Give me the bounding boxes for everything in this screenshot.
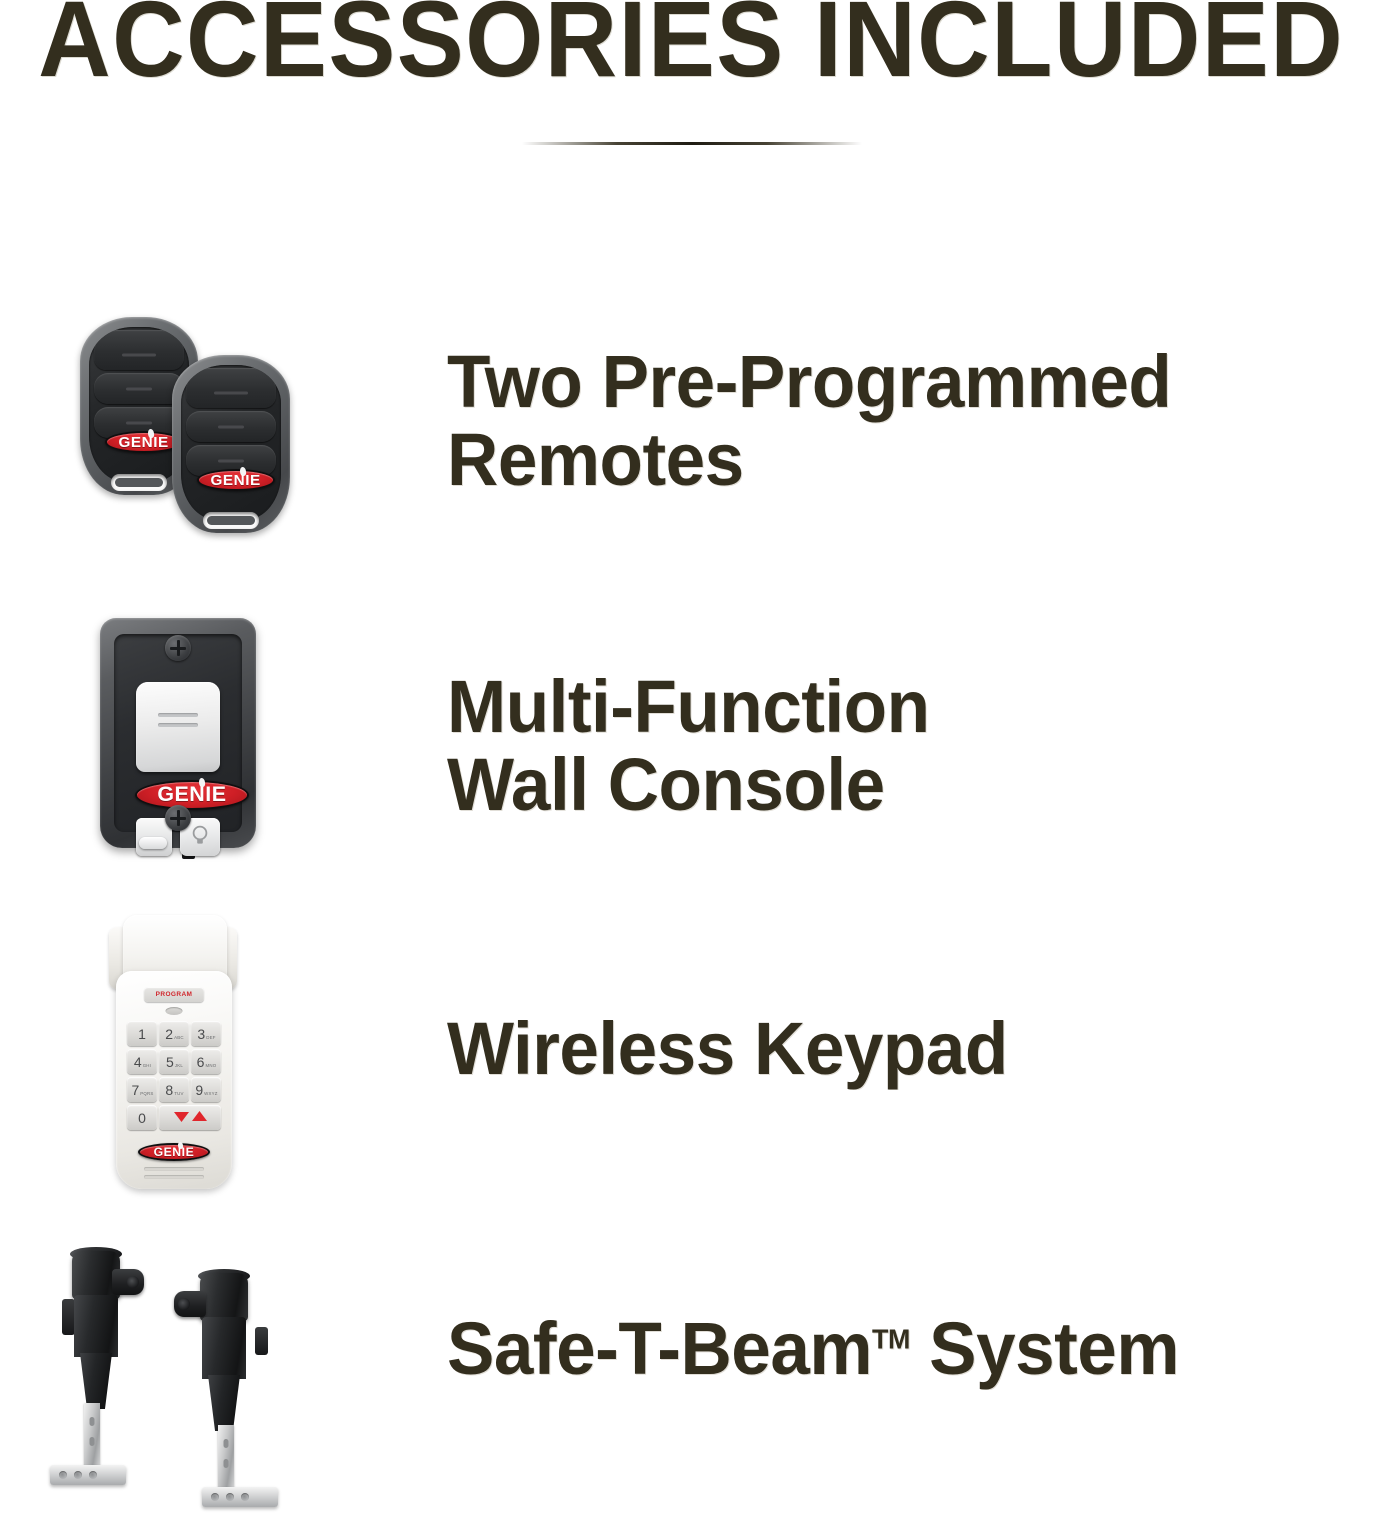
key-number: 2 bbox=[165, 1026, 173, 1042]
sensor-lens-right bbox=[112, 1269, 144, 1295]
accessory-row-wireless-keypad: PROGRAM 1 2ABC 3DEF 4GHI 5JKL 6MNO 7PQRS… bbox=[0, 910, 1383, 1200]
key-letters: WXYZ bbox=[204, 1091, 217, 1096]
header: ACCESSORIES INCLUDED bbox=[0, 0, 1383, 91]
post-slot bbox=[224, 1439, 229, 1448]
key-number: 1 bbox=[138, 1026, 146, 1042]
safe-t-beam-sensor-left bbox=[50, 1243, 150, 1508]
down-arrow-icon bbox=[174, 1109, 189, 1127]
genie-logo: GENIE bbox=[197, 469, 275, 491]
wireless-keypad-art: PROGRAM 1 2ABC 3DEF 4GHI 5JKL 6MNO 7PQRS… bbox=[103, 915, 243, 1190]
remote-button-2[interactable] bbox=[186, 411, 276, 442]
up-arrow-icon bbox=[192, 1109, 207, 1127]
button-dash-icon bbox=[126, 421, 152, 424]
trademark-symbol: TM bbox=[872, 1323, 910, 1354]
program-button[interactable]: PROGRAM bbox=[144, 987, 204, 1002]
keypad-vent-slot bbox=[144, 1175, 204, 1179]
label-line-1: Two Pre-Programmed bbox=[447, 340, 1171, 423]
key-letters: GHI bbox=[143, 1063, 151, 1068]
remote-button-1[interactable] bbox=[94, 330, 184, 370]
keypad-key-8[interactable]: 8TUV bbox=[159, 1077, 189, 1102]
key-number: 0 bbox=[138, 1110, 146, 1126]
accessory-row-wall-console: GENIE bbox=[0, 610, 1383, 870]
key-number: 5 bbox=[166, 1054, 174, 1070]
genie-logo-text: GENIE bbox=[157, 783, 226, 807]
key-letters: PQRS bbox=[140, 1091, 153, 1096]
keypad-key-3[interactable]: 3DEF bbox=[191, 1021, 221, 1046]
keypad-key-5[interactable]: 5JKL bbox=[159, 1049, 189, 1074]
light-bulb-icon bbox=[191, 824, 209, 851]
keypad-body: PROGRAM 1 2ABC 3DEF 4GHI 5JKL 6MNO 7PQRS… bbox=[116, 971, 232, 1189]
sensor-taper bbox=[208, 1375, 240, 1431]
genie-logo-text: GENIE bbox=[154, 1145, 195, 1159]
status-led bbox=[166, 1007, 183, 1015]
button-line-icon bbox=[158, 713, 198, 717]
keypad-key-0[interactable]: 0 bbox=[127, 1105, 157, 1130]
post-slot bbox=[90, 1437, 95, 1446]
key-number: 7 bbox=[131, 1082, 139, 1098]
accessory-label-safe-t-beam: Safe-T-BeamTM System bbox=[447, 1310, 1179, 1388]
wall-console-art: GENIE bbox=[100, 618, 256, 848]
mounting-screw-bottom bbox=[165, 805, 191, 831]
button-dash-icon bbox=[122, 353, 156, 356]
console-faceplate: GENIE bbox=[114, 634, 242, 832]
remote-button-2[interactable] bbox=[94, 373, 184, 404]
accessory-row-safe-t-beam: Safe-T-BeamTM System bbox=[0, 1235, 1383, 1500]
remote-button-1[interactable] bbox=[186, 368, 276, 408]
title-divider bbox=[522, 142, 862, 145]
keyring-slot bbox=[111, 474, 167, 491]
keypad-key-4[interactable]: 4GHI bbox=[127, 1049, 157, 1074]
sensor-eye-icon bbox=[127, 1276, 139, 1288]
genie-logo: GENIE bbox=[138, 1143, 210, 1161]
button-dash-icon bbox=[218, 425, 244, 428]
button-dash-icon bbox=[126, 387, 152, 390]
key-number: 8 bbox=[165, 1082, 173, 1098]
key-number: 9 bbox=[195, 1082, 203, 1098]
key-letters: ABC bbox=[174, 1035, 184, 1040]
post-slot bbox=[90, 1417, 95, 1426]
key-letters: TUV bbox=[174, 1091, 183, 1096]
key-number: 6 bbox=[197, 1054, 205, 1070]
sensor-head bbox=[200, 1273, 248, 1321]
sensor-barrel bbox=[74, 1295, 118, 1357]
sensor-lens-left bbox=[174, 1291, 206, 1317]
switch-knob bbox=[139, 837, 167, 849]
key-number: 3 bbox=[197, 1026, 205, 1042]
keypad-key-7[interactable]: 7PQRS bbox=[127, 1077, 157, 1102]
mounting-screw-top bbox=[165, 635, 191, 661]
key-number: 4 bbox=[134, 1054, 142, 1070]
accessory-label-wall-console: Multi-FunctionWall Console bbox=[447, 668, 930, 824]
accessory-row-remotes: GENIE GENIE Two Pre-ProgrammedRemotes bbox=[0, 295, 1383, 550]
key-letters: MNO bbox=[205, 1063, 216, 1068]
remote-face: GENIE bbox=[181, 365, 281, 520]
sensor-taper bbox=[80, 1353, 112, 1409]
button-line-icon bbox=[158, 723, 198, 727]
genie-logo-text: GENIE bbox=[119, 434, 169, 451]
keypad-keys[interactable]: 1 2ABC 3DEF 4GHI 5JKL 6MNO 7PQRS 8TUV 9W… bbox=[127, 1021, 221, 1130]
safe-t-beam-art bbox=[50, 1235, 295, 1500]
mounting-bracket bbox=[202, 1487, 278, 1507]
genie-logo: GENIE bbox=[135, 780, 249, 810]
sensor-mount-post bbox=[218, 1425, 234, 1493]
label-line-1: Multi-Function bbox=[447, 665, 930, 748]
bracket-hole bbox=[89, 1471, 97, 1479]
bracket-hole bbox=[74, 1471, 82, 1479]
button-dash-icon bbox=[214, 391, 248, 394]
keypad-vent-slot bbox=[144, 1167, 204, 1171]
page-title: ACCESSORIES INCLUDED bbox=[39, 0, 1345, 93]
program-button-label: PROGRAM bbox=[156, 991, 193, 998]
remotes-art: GENIE GENIE bbox=[72, 305, 372, 535]
safe-t-beam-sensor-right bbox=[178, 1265, 278, 1530]
genie-logo-text: GENIE bbox=[211, 472, 261, 489]
accessory-label-wireless-keypad: Wireless Keypad bbox=[447, 1010, 1008, 1088]
sensor-mount-post bbox=[84, 1403, 100, 1471]
sensor-eye-icon bbox=[178, 1298, 190, 1310]
keypad-key-6[interactable]: 6MNO bbox=[191, 1049, 221, 1074]
keypad-key-2[interactable]: 2ABC bbox=[159, 1021, 189, 1046]
key-letters: JKL bbox=[175, 1063, 183, 1068]
post-slot bbox=[224, 1459, 229, 1468]
key-letters: DEF bbox=[206, 1035, 215, 1040]
keypad-arrow-key[interactable] bbox=[159, 1105, 221, 1130]
label-line-2: Remotes bbox=[447, 418, 744, 501]
door-open-close-button[interactable] bbox=[136, 682, 220, 772]
keypad-key-1[interactable]: 1 bbox=[127, 1021, 157, 1046]
label-main: Safe-T-Beam bbox=[447, 1307, 872, 1390]
keyring-slot bbox=[203, 512, 259, 529]
bracket-hole bbox=[59, 1471, 67, 1479]
keypad-key-9[interactable]: 9WXYZ bbox=[191, 1077, 221, 1102]
label-tail: System bbox=[910, 1307, 1179, 1390]
button-dash-icon bbox=[218, 459, 244, 462]
label-line-1: Wireless Keypad bbox=[447, 1007, 1008, 1090]
label-line-2: Wall Console bbox=[447, 743, 885, 826]
sensor-barrel bbox=[202, 1317, 246, 1379]
remote-front: GENIE bbox=[172, 355, 290, 533]
mounting-bracket bbox=[50, 1465, 126, 1485]
accessory-label-remotes: Two Pre-ProgrammedRemotes bbox=[447, 343, 1171, 499]
wire-clip bbox=[255, 1327, 268, 1355]
